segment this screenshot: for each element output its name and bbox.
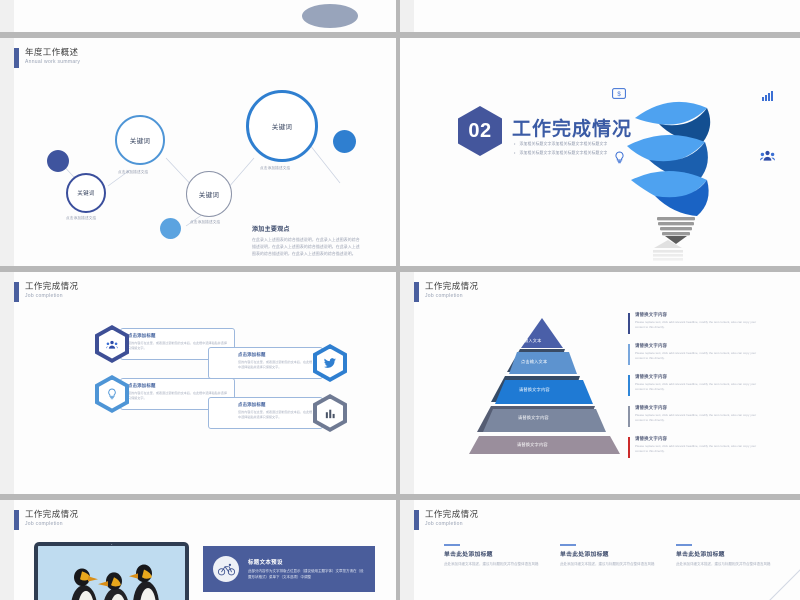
- slide-section-divider-02[interactable]: 02 工作完成情况 添加相关标题文字添加相关标题文字相关标题文字 添加相关标题文…: [400, 38, 800, 266]
- money-icon: $: [612, 88, 626, 99]
- item-accent-bar: [628, 437, 630, 458]
- header-accent-bar: [414, 510, 419, 530]
- keyword-label: 关键词: [77, 189, 94, 197]
- bicycle-icon: [213, 556, 239, 582]
- list-item: 请替换文字内容 Please replace text, click add r…: [628, 374, 758, 392]
- column-title: 单击此处添加标题: [444, 549, 540, 558]
- column-item-2: 单击此处添加标题 此处添加详细文本描述，建议与标题相关并符合整体语言风格: [560, 544, 656, 568]
- pyramid-level-label: 点击输入文本: [521, 359, 547, 365]
- column-accent-tick: [560, 544, 576, 546]
- section-bullet: 添加相关标题文字添加相关标题文字相关标题文字: [514, 151, 607, 156]
- column-item-1: 单击此处添加标题 此处添加详细文本描述，建议与标题相关并符合整体语言风格: [444, 544, 540, 568]
- list-item: 请替换文字内容 Please replace text, click add r…: [628, 343, 758, 361]
- slide-header: 工作完成情况 Job completion: [14, 509, 78, 530]
- slide-job-completion-pyramid[interactable]: 工作完成情况 Job completion 输入文本: [400, 272, 800, 494]
- item-title: 请替换文字内容: [635, 343, 758, 349]
- item-text: Please replace text, click add relevant …: [635, 320, 758, 330]
- slide-header: 工作完成情况 Job completion: [414, 509, 478, 530]
- preset-text-panel: 标题文本预设 此部分内容作为文字排版占位显示（建议使用主题字体）文章您方请在（设…: [203, 546, 375, 592]
- list-item: 请替换文字内容 Please replace text, click add r…: [628, 312, 758, 330]
- header-accent-bar: [14, 510, 19, 530]
- keyword-node-center[interactable]: 关键词: [186, 171, 232, 217]
- pyramid-level-label: 输入文本: [524, 338, 542, 344]
- column-text: 此处添加详细文本描述，建议与标题相关并符合整体语言风格: [560, 562, 656, 568]
- slide-gutter: [400, 0, 414, 32]
- column-accent-tick: [444, 544, 460, 546]
- section-bullet: 添加相关标题文字添加相关标题文字相关标题文字: [514, 142, 607, 147]
- slide-gutter: [400, 272, 414, 494]
- hex-item-badge-inner: [317, 399, 343, 428]
- slide-gutter: [0, 500, 14, 600]
- hex-item-title: 点击添加标题: [216, 352, 315, 358]
- item-accent-bar: [628, 313, 630, 334]
- slide-header: 工作完成情况 Job completion: [14, 281, 78, 302]
- header-title-en: Job completion: [25, 521, 78, 527]
- webcam-dot: [111, 544, 113, 546]
- accent-dot-blue: [333, 130, 356, 153]
- slide-job-completion-columns[interactable]: 工作完成情况 Job completion 单击此处添加标题 此处添加详细文本描…: [400, 500, 800, 600]
- header-title-en: Job completion: [25, 293, 78, 299]
- decorative-diagonal-line: [744, 566, 800, 600]
- people-icon: [106, 339, 118, 350]
- keyword-node-large[interactable]: 关键词: [246, 90, 318, 162]
- column-accent-tick: [676, 544, 692, 546]
- item-text: Please replace text, click add relevant …: [635, 413, 758, 423]
- laptop-screen: [34, 542, 189, 600]
- slide-header: 工作完成情况 Job completion: [414, 281, 478, 302]
- hex-item-title: 点击添加标题: [128, 383, 227, 389]
- slide-thumbnail-partial-left[interactable]: [0, 0, 396, 32]
- bulb-reflection: [648, 240, 688, 264]
- item-title: 请替换文字内容: [635, 374, 758, 380]
- header-title-cn: 工作完成情况: [25, 281, 78, 291]
- column-item-3: 单击此处添加标题 此处添加详细文本描述，建议与标题相关并符合整体语言风格: [676, 544, 772, 568]
- item-text: Please replace text, click add relevant …: [635, 444, 758, 454]
- keyword-caption: 点击添加描述文结: [118, 170, 148, 175]
- section-number-hexagon: 02: [458, 106, 502, 156]
- lightbulb-icon: [107, 388, 117, 400]
- header-title-en: Job completion: [425, 521, 478, 527]
- hex-item-text: 您的内容打在这里，或者通过复制您的文本后，在此框中选择粘贴并选择只保留文字。: [216, 360, 315, 370]
- hex-item-title: 点击添加标题: [216, 402, 315, 408]
- laptop-mockup: [34, 542, 189, 600]
- item-text: Please replace text, click add relevant …: [635, 382, 758, 392]
- header-accent-bar: [414, 282, 419, 302]
- slide-job-completion-hexagons[interactable]: 工作完成情况 Job completion 点击添加标题 您的内容打在这里，或者…: [0, 272, 396, 494]
- svg-text:$: $: [617, 92, 621, 98]
- item-title: 请替换文字内容: [635, 436, 758, 442]
- preset-body: 此部分内容作为文字排版占位显示（建议使用主题字体）文章您方请在（设置形状格式）菜…: [248, 569, 365, 580]
- twitter-icon: [324, 358, 336, 368]
- pyramid-legend-list: 请替换文字内容 Please replace text, click add r…: [628, 312, 758, 467]
- slide-thumbnail-partial-right[interactable]: [400, 0, 800, 32]
- item-accent-bar: [628, 344, 630, 365]
- header-accent-bar: [14, 282, 19, 302]
- lightbulb-icon: [614, 151, 625, 164]
- header-title-cn: 工作完成情况: [25, 509, 78, 519]
- column-title: 单击此处添加标题: [560, 549, 656, 558]
- main-viewpoint-block: 添加主要观点 在此录入上述图表的综合描述说明，在此录入上述图表的综合描述说明，在…: [252, 224, 360, 257]
- pyramid-chart: 输入文本 点击输入文本 请替换文字内容 请替换文字内容 请替换文字内容: [465, 314, 620, 454]
- main-viewpoint-text: 在此录入上述图表的综合描述说明，在此录入上述图表的综合描述说明，在此录入上述图表…: [252, 237, 360, 257]
- accent-dot-dark: [47, 150, 69, 172]
- item-title: 请替换文字内容: [635, 312, 758, 318]
- slide-job-completion-device[interactable]: 工作完成情况 Job completion: [0, 500, 396, 600]
- penguins-photo: [38, 546, 185, 600]
- keyword-node-small[interactable]: 关键词: [66, 173, 106, 213]
- pyramid-level-label: 请替换文字内容: [519, 387, 550, 393]
- presentation-thumbnail-grid: 年度工作概述 Annual work summary 关键词 点击添加描述文结: [0, 0, 800, 600]
- header-title-cn: 工作完成情况: [425, 281, 478, 291]
- accent-dot-light: [160, 218, 181, 239]
- item-title: 请替换文字内容: [635, 405, 758, 411]
- keyword-label: 关键词: [130, 135, 150, 145]
- keyword-caption: 点击添加描述文结: [260, 166, 290, 171]
- preset-text-content: 标题文本预设 此部分内容作为文字排版占位显示（建议使用主题字体）文章您方请在（设…: [248, 558, 365, 580]
- header-title-cn: 工作完成情况: [425, 509, 478, 519]
- bar-chart-icon: [761, 90, 774, 101]
- item-accent-bar: [628, 406, 630, 427]
- hex-item-pill: 点击添加标题 您的内容打在这里，或者通过复制您的文本后，在此框中选择粘贴并选择只…: [208, 347, 323, 379]
- slide-gutter: [400, 500, 414, 600]
- slide-annual-work-summary[interactable]: 年度工作概述 Annual work summary 关键词 点击添加描述文结: [0, 38, 396, 266]
- item-text: Please replace text, click add relevant …: [635, 351, 758, 361]
- keyword-caption: 点击添加描述文结: [66, 216, 96, 221]
- header-title-en: Job completion: [425, 293, 478, 299]
- keyword-label: 关键词: [272, 121, 292, 131]
- keyword-caption: 点击添加描述文结: [190, 220, 220, 225]
- main-viewpoint-title: 添加主要观点: [252, 224, 360, 233]
- slide-gutter: [0, 272, 14, 494]
- item-accent-bar: [628, 375, 630, 396]
- section-title: 工作完成情况: [512, 114, 632, 141]
- partial-shape-graphic: [0, 0, 396, 32]
- hex-item-badge-inner: [317, 349, 343, 378]
- list-item: 请替换文字内容 Please replace text, click add r…: [628, 405, 758, 423]
- column-text: 此处添加详细文本描述，建议与标题相关并符合整体语言风格: [444, 562, 540, 568]
- pyramid-level-label: 请替换文字内容: [518, 415, 549, 421]
- slide-gutter: [400, 38, 414, 266]
- pyramid-level-label: 请替换文字内容: [517, 442, 548, 448]
- column-title: 单击此处添加标题: [676, 549, 772, 558]
- keyword-label: 关键词: [199, 189, 219, 199]
- hex-item-badge-inner: [99, 330, 125, 359]
- hex-item-text: 您的内容打在这里，或者通过复制您的文本后，在此框中选择粘贴并选择只保留文字。: [216, 410, 315, 420]
- hex-item-badge-inner: [99, 380, 125, 409]
- spiral-lightbulb-graphic: [615, 84, 725, 244]
- keyword-node-medium[interactable]: 关键词: [115, 115, 165, 165]
- people-icon: [760, 150, 775, 161]
- hex-item-pill: 点击添加标题 您的内容打在这里，或者通过复制您的文本后，在此框中选择粘贴并选择只…: [208, 397, 323, 429]
- preset-title: 标题文本预设: [248, 558, 365, 566]
- hex-item-title: 点击添加标题: [128, 333, 227, 339]
- list-item: 请替换文字内容 Please replace text, click add r…: [628, 436, 758, 454]
- bar-chart-icon: [325, 408, 336, 419]
- section-number: 02: [468, 120, 491, 143]
